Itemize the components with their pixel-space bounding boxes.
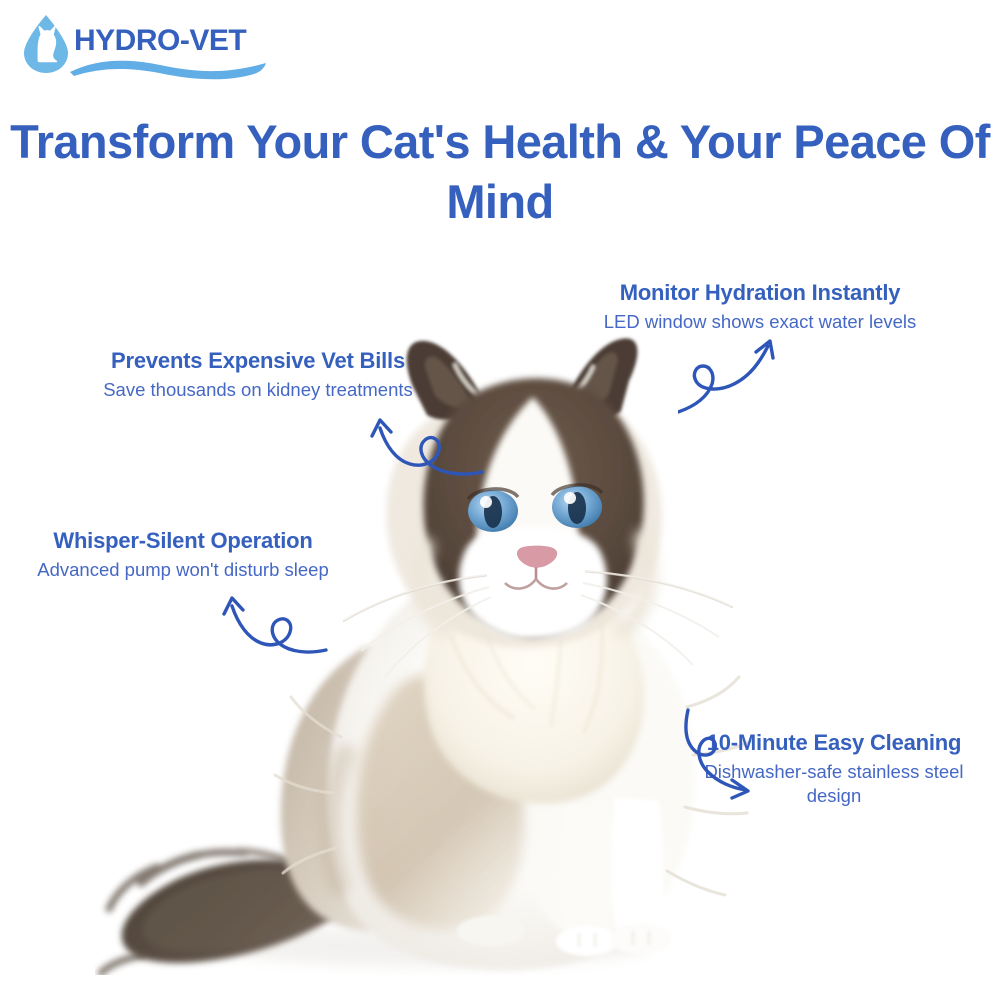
callout-subtitle: Advanced pump won't disturb sleep: [18, 558, 348, 582]
callout-title: Whisper-Silent Operation: [18, 528, 348, 555]
brand-logo[interactable]: HYDRO-VET: [16, 10, 276, 80]
curly-arrow-up-right-icon: [368, 402, 484, 478]
wave-icon: [68, 56, 268, 82]
curly-arrow-up-left-icon: [222, 582, 328, 658]
brand-wordmark: HYDRO-VET: [74, 24, 246, 58]
callout-monitor-hydration: Monitor Hydration Instantly LED window s…: [560, 280, 960, 334]
callout-title: Monitor Hydration Instantly: [560, 280, 960, 307]
page-title: Transform Your Cat's Health & Your Peace…: [0, 112, 1000, 232]
marketing-infographic: HYDRO-VET Transform Your Cat's Health & …: [0, 0, 1000, 1000]
curly-arrow-down-right-icon: [682, 706, 758, 802]
callout-whisper-silent: Whisper-Silent Operation Advanced pump w…: [18, 528, 348, 582]
callout-subtitle: Save thousands on kidney treatments: [58, 378, 458, 402]
callout-subtitle: LED window shows exact water levels: [560, 310, 960, 334]
water-droplet-cat-icon: [20, 14, 72, 74]
callout-vet-bills: Prevents Expensive Vet Bills Save thousa…: [58, 348, 458, 402]
curly-arrow-up-right-icon: [678, 332, 782, 416]
callout-title: Prevents Expensive Vet Bills: [58, 348, 458, 375]
